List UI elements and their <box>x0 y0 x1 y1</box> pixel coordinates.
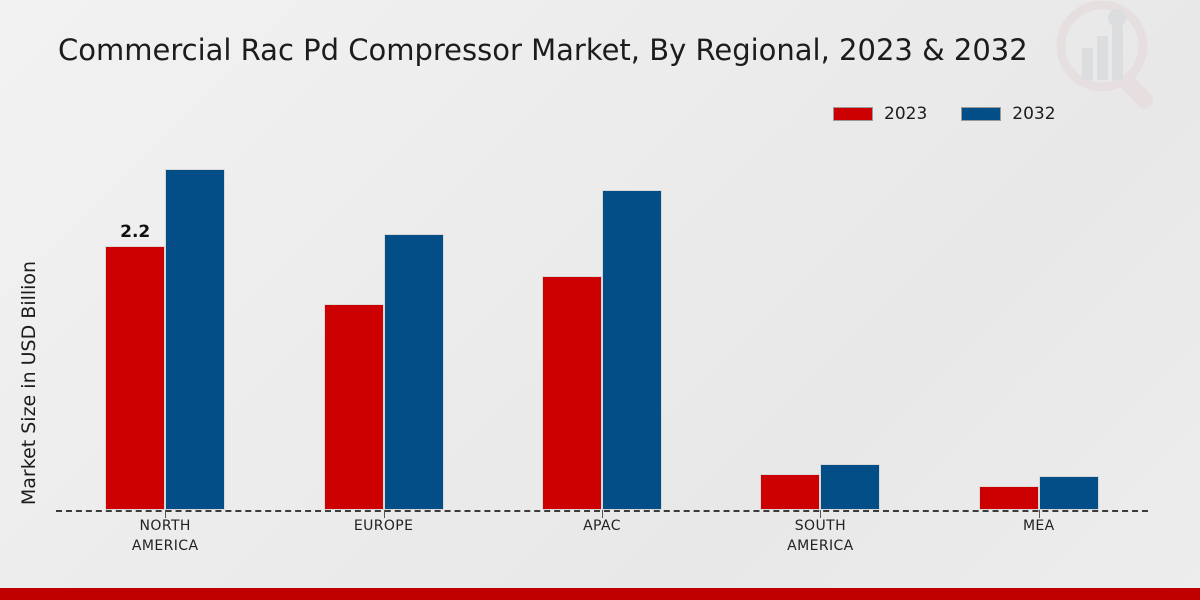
chart-canvas: Commercial Rac Pd Compressor Market, By … <box>0 0 1200 600</box>
plot-area: 2.2 <box>56 150 1148 510</box>
bar-group <box>324 150 444 510</box>
bar-group <box>542 150 662 510</box>
x-axis-label: NORTHAMERICA <box>75 516 255 556</box>
legend-label-2023: 2023 <box>884 104 927 124</box>
magnifier-watermark-icon <box>1042 0 1172 122</box>
bar-value-label: 2.2 <box>105 222 165 242</box>
chart-legend: 2023 2032 <box>833 104 1056 124</box>
bar-apac-2023[interactable] <box>542 276 602 510</box>
bar-north-america-2023[interactable] <box>105 246 165 510</box>
bar-group <box>760 150 880 510</box>
legend-label-2032: 2032 <box>1012 104 1055 124</box>
x-axis-label: EUROPE <box>294 516 474 536</box>
x-axis-label: APAC <box>512 516 692 536</box>
bar-mea-2023[interactable] <box>979 486 1039 510</box>
bar-europe-2032[interactable] <box>384 234 444 510</box>
legend-item-2032[interactable]: 2032 <box>961 104 1055 124</box>
footer-accent-bar <box>0 588 1200 600</box>
legend-item-2023[interactable]: 2023 <box>833 104 927 124</box>
bar-north-america-2032[interactable] <box>165 169 225 510</box>
bar-group: 2.2 <box>105 150 225 510</box>
legend-swatch-2023 <box>833 107 873 121</box>
bar-apac-2032[interactable] <box>602 190 662 510</box>
bar-south-america-2032[interactable] <box>820 464 880 510</box>
bar-europe-2023[interactable] <box>324 304 384 510</box>
legend-swatch-2032 <box>961 107 1001 121</box>
y-axis-title: Market Size in USD Billion <box>18 143 40 600</box>
chart-title: Commercial Rac Pd Compressor Market, By … <box>58 33 1028 67</box>
bar-mea-2032[interactable] <box>1039 476 1099 510</box>
bar-south-america-2023[interactable] <box>760 474 820 510</box>
bar-group <box>979 150 1099 510</box>
x-axis-label: MEA <box>949 516 1129 536</box>
x-axis-label: SOUTHAMERICA <box>730 516 910 556</box>
